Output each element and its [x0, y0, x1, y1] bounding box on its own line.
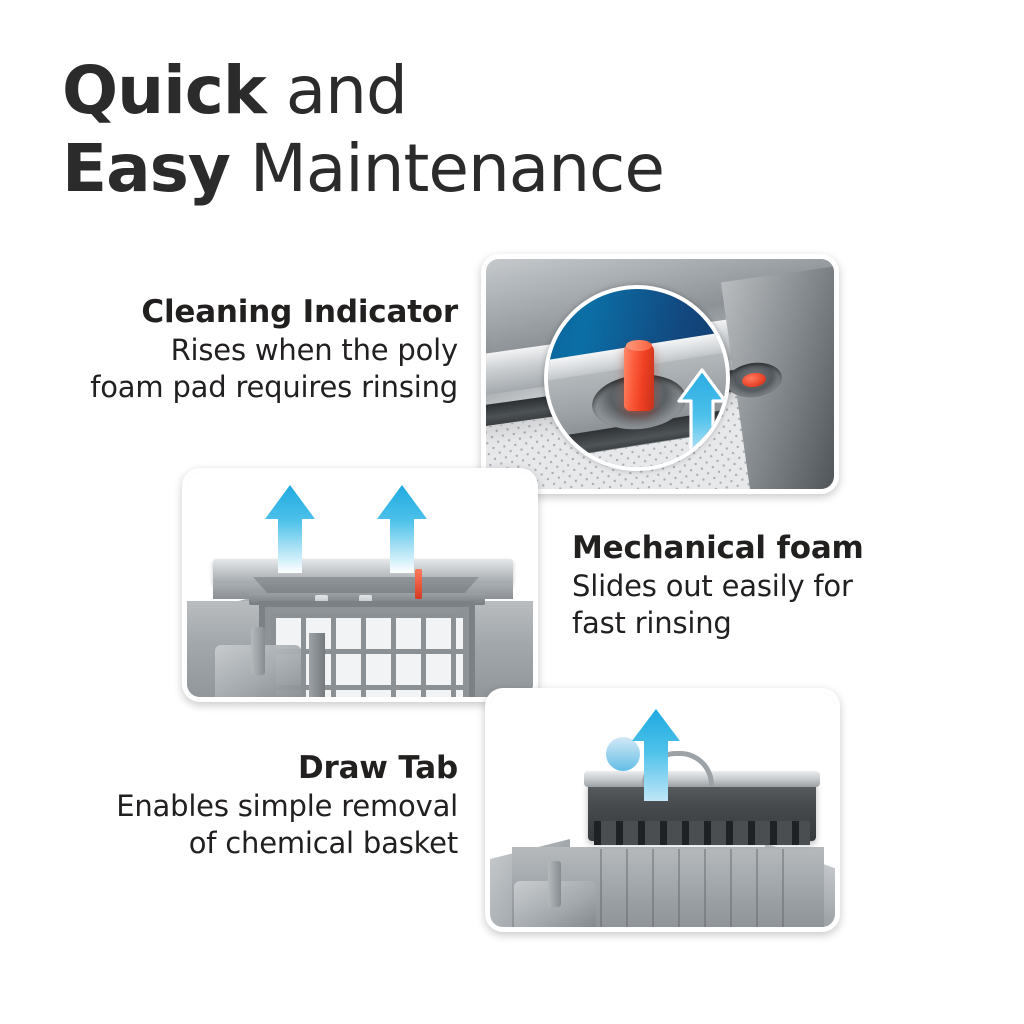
page-title-word-easy: Easy — [62, 130, 230, 207]
caption-body-line-2: of chemical basket — [40, 825, 458, 862]
caption-title: Cleaning Indicator — [40, 292, 458, 332]
photo-draw-tab — [490, 693, 835, 927]
caption-draw-tab: Draw Tab Enables simple removal of chemi… — [40, 748, 458, 862]
page-title-word-quick: Quick — [62, 52, 266, 129]
photo-mechanical-foam — [187, 473, 533, 697]
caption-mechanical-foam: Mechanical foam Slides out easily for fa… — [572, 528, 972, 642]
page-title-word-maintenance: Maintenance — [230, 130, 664, 207]
caption-body-line-1: Rises when the poly — [40, 332, 458, 369]
internal-post — [309, 633, 325, 697]
up-arrow-icon — [630, 707, 682, 803]
photo-panel-cleaning-indicator — [481, 254, 839, 494]
up-arrow-icon — [375, 483, 429, 575]
photo-cleaning-indicator — [486, 259, 834, 489]
caption-title: Draw Tab — [40, 748, 458, 788]
internal-tube — [251, 627, 265, 675]
magnifier-circle — [544, 285, 730, 471]
caption-body-line-1: Slides out easily for — [572, 568, 972, 605]
up-arrow-icon — [676, 367, 728, 471]
infographic-page: Quick and Easy Maintenance Cleaning Indi… — [0, 0, 1024, 1024]
photo-panel-draw-tab — [485, 688, 840, 932]
caption-title: Mechanical foam — [572, 528, 972, 568]
caption-body-line-2: fast rinsing — [572, 605, 972, 642]
machine-body-ribs — [600, 849, 786, 927]
page-title-line-2: Easy Maintenance — [62, 130, 822, 208]
page-title-line-1: Quick and — [62, 52, 822, 130]
red-indicator-pin — [624, 343, 654, 411]
secondary-indicator-dot — [741, 371, 767, 388]
caption-body-line-1: Enables simple removal — [40, 788, 458, 825]
page-title-word-and: and — [266, 52, 407, 129]
caption-cleaning-indicator: Cleaning Indicator Rises when the poly f… — [40, 292, 458, 406]
page-title: Quick and Easy Maintenance — [62, 52, 822, 208]
photo-panel-mechanical-foam — [182, 468, 538, 702]
internal-tube — [548, 861, 561, 907]
up-arrow-icon — [263, 483, 317, 575]
chemical-basket-vents — [594, 821, 810, 845]
caption-body-line-2: foam pad requires rinsing — [40, 369, 458, 406]
